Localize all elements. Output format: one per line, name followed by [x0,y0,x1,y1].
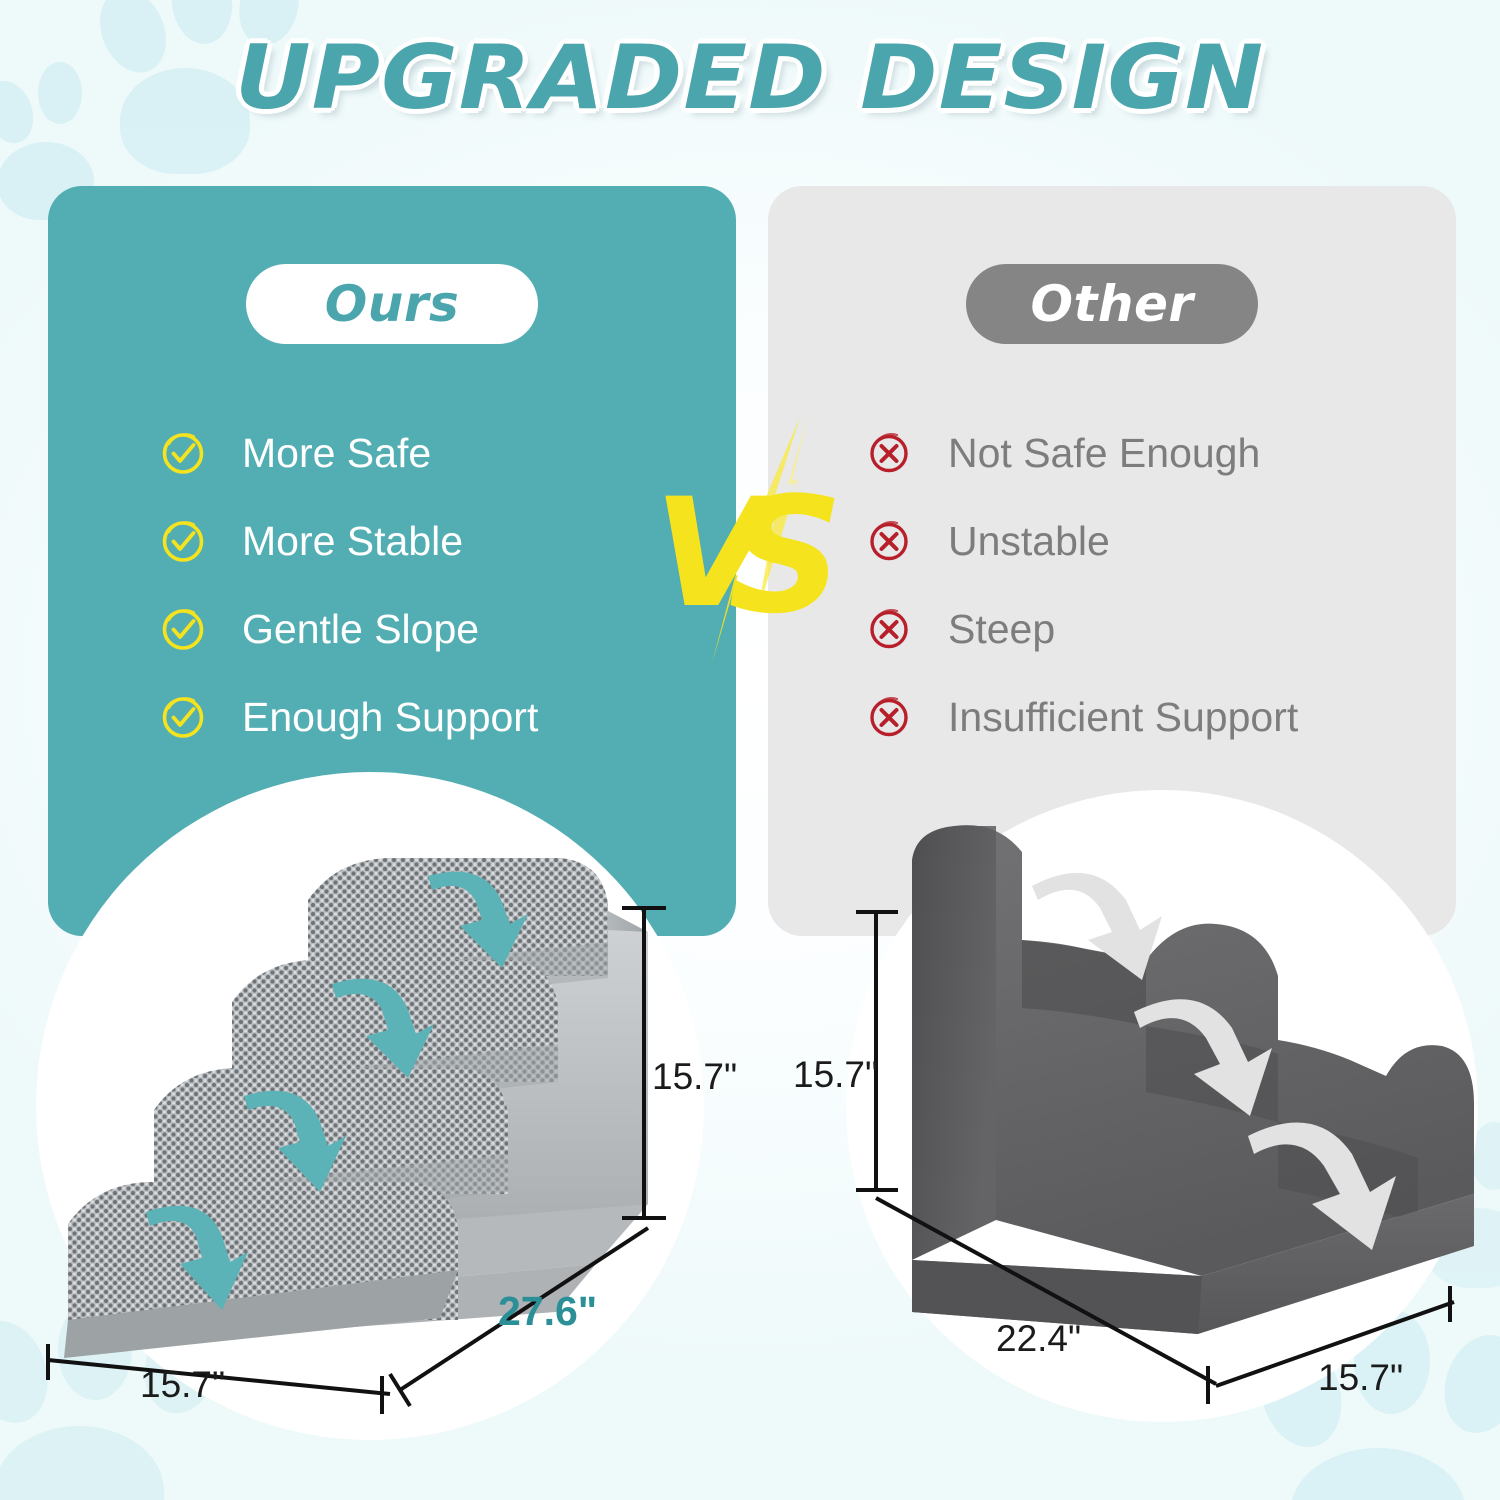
product-illustration-ours [36,772,704,1440]
product-photo-other [846,790,1478,1422]
feature-row: Unstable [866,514,1420,568]
dimension-label-ours-height: 15.7" [652,1056,737,1098]
dimension-label-other-depth: 22.4" [996,1318,1081,1360]
feature-label: Unstable [948,521,1110,562]
feature-list-other: Not Safe Enough Unstable [866,426,1420,744]
infographic-canvas: UPGRADED DESIGN Ours More Safe [0,0,1500,1500]
feature-label: Not Safe Enough [948,433,1260,474]
dimension-label-other-width: 15.7" [1318,1357,1403,1399]
dimension-label-ours-depth: 27.6" [498,1288,597,1335]
x-circle-icon [866,430,912,476]
feature-row: Not Safe Enough [866,426,1420,480]
panel-badge-ours: Ours [246,264,538,344]
page-title-container: UPGRADED DESIGN [0,34,1500,122]
page-title: UPGRADED DESIGN [235,34,1264,122]
feature-label: Steep [948,609,1055,650]
feature-list-ours: More Safe More Stable [160,426,700,744]
panel-badge-other-label: Other [1030,275,1193,333]
feature-row: Gentle Slope [160,602,700,656]
feature-label: Enough Support [242,697,538,738]
feature-row: More Stable [160,514,700,568]
check-circle-icon [160,518,206,564]
dimension-label-ours-width: 15.7" [140,1364,225,1406]
check-circle-icon [160,606,206,652]
feature-label: Insufficient Support [948,697,1298,738]
feature-row: Steep [866,602,1420,656]
product-illustration-other [846,790,1478,1422]
feature-row: Enough Support [160,690,700,744]
x-circle-icon [866,694,912,740]
check-circle-icon [160,694,206,740]
panel-badge-other: Other [966,264,1258,344]
x-circle-icon [866,518,912,564]
panel-badge-ours-label: Ours [325,275,460,333]
svg-text:S: S [728,462,843,649]
dimension-label-other-height: 15.7" [793,1054,878,1096]
vs-badge: V S [650,415,850,665]
feature-label: More Stable [242,521,463,562]
check-circle-icon [160,430,206,476]
feature-label: More Safe [242,433,431,474]
feature-row: More Safe [160,426,700,480]
x-circle-icon [866,606,912,652]
feature-label: Gentle Slope [242,609,479,650]
feature-row: Insufficient Support [866,690,1420,744]
product-photo-ours [36,772,704,1440]
